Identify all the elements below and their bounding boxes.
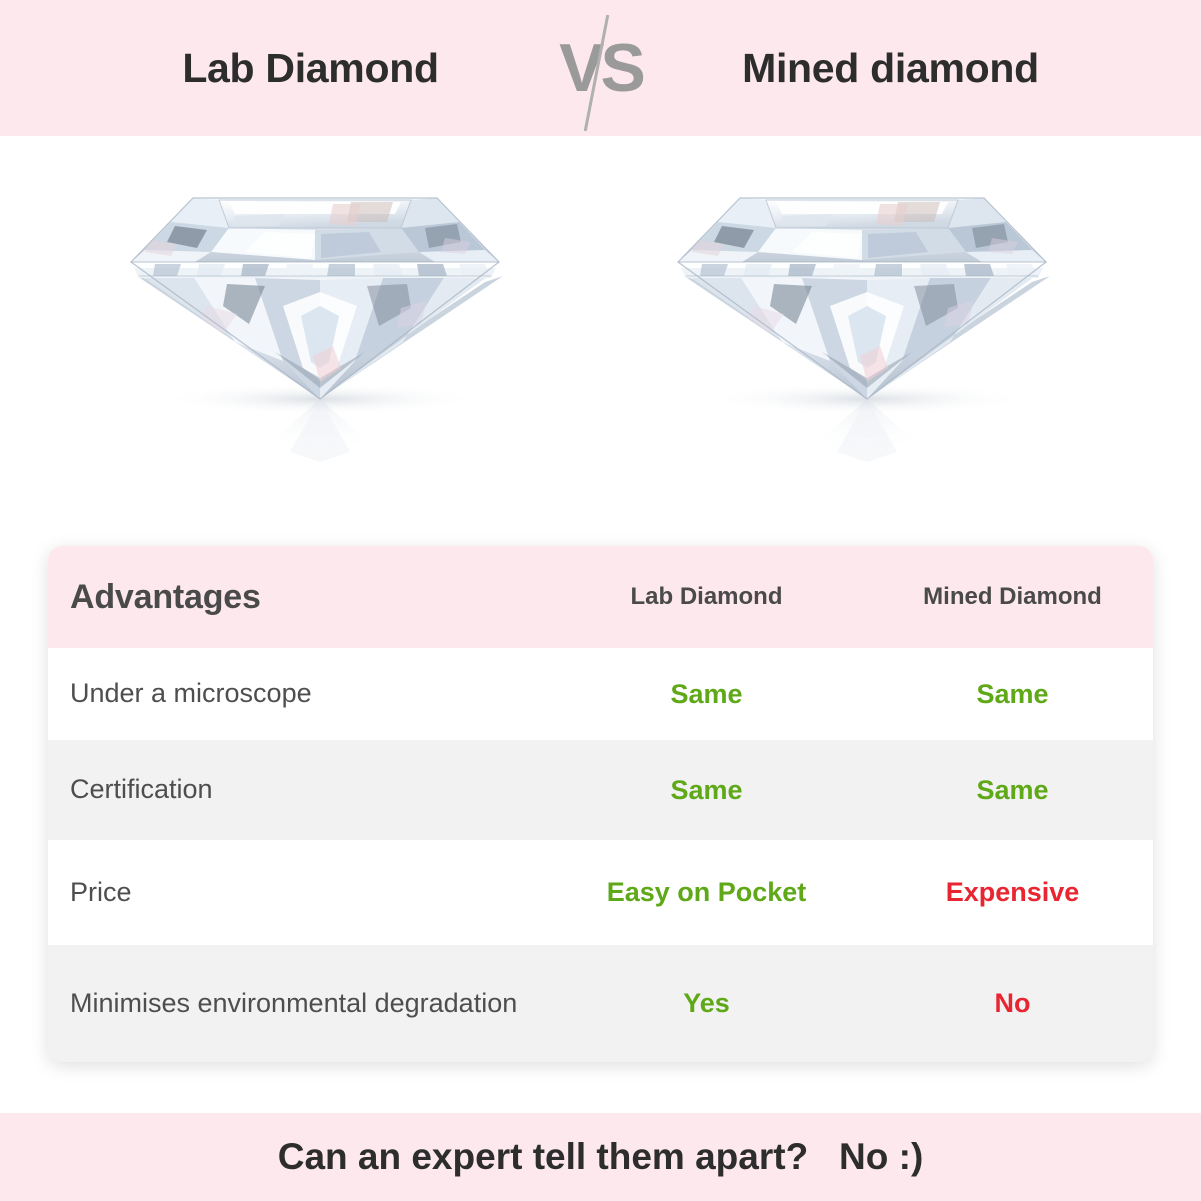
row-feature-label: Under a microscope	[48, 676, 541, 712]
mined-diamond-photo	[662, 156, 1062, 486]
table-header-row: Advantages Lab Diamond Mined Diamond	[48, 546, 1153, 648]
table-row: Certification Same Same	[48, 740, 1153, 840]
row-feature-label: Certification	[48, 772, 541, 808]
row-mined-value: No	[872, 988, 1153, 1019]
lab-diamond-title: Lab Diamond	[76, 45, 546, 92]
header-lab-diamond: Lab Diamond	[541, 583, 872, 611]
row-lab-value: Yes	[541, 988, 872, 1019]
header-mined-diamond: Mined Diamond	[872, 583, 1153, 611]
comparison-table: Advantages Lab Diamond Mined Diamond Und…	[48, 546, 1153, 1062]
lab-diamond-photo	[115, 156, 515, 486]
table-row: Minimises environmental degradation Yes …	[48, 945, 1153, 1062]
table-row: Under a microscope Same Same	[48, 648, 1153, 740]
header-advantages: Advantages	[48, 578, 541, 617]
footer-banner: Can an expert tell them apart? No :)	[0, 1113, 1201, 1201]
versus-badge: VS	[546, 8, 656, 128]
mined-diamond-title: Mined diamond	[656, 45, 1126, 92]
row-mined-value: Same	[872, 775, 1153, 806]
table-row: Price Easy on Pocket Expensive	[48, 840, 1153, 945]
diamond-images-area	[0, 136, 1201, 536]
row-lab-value: Easy on Pocket	[541, 877, 872, 908]
row-lab-value: Same	[541, 679, 872, 710]
row-lab-value: Same	[541, 775, 872, 806]
row-mined-value: Same	[872, 679, 1153, 710]
row-feature-label: Minimises environmental degradation	[48, 986, 541, 1022]
top-banner: Lab Diamond VS Mined diamond	[0, 0, 1201, 136]
footer-question: Can an expert tell them apart? No :)	[278, 1136, 924, 1178]
row-feature-label: Price	[48, 875, 541, 911]
row-mined-value: Expensive	[872, 877, 1153, 908]
comparison-infographic: Lab Diamond VS Mined diamond	[0, 0, 1201, 1201]
